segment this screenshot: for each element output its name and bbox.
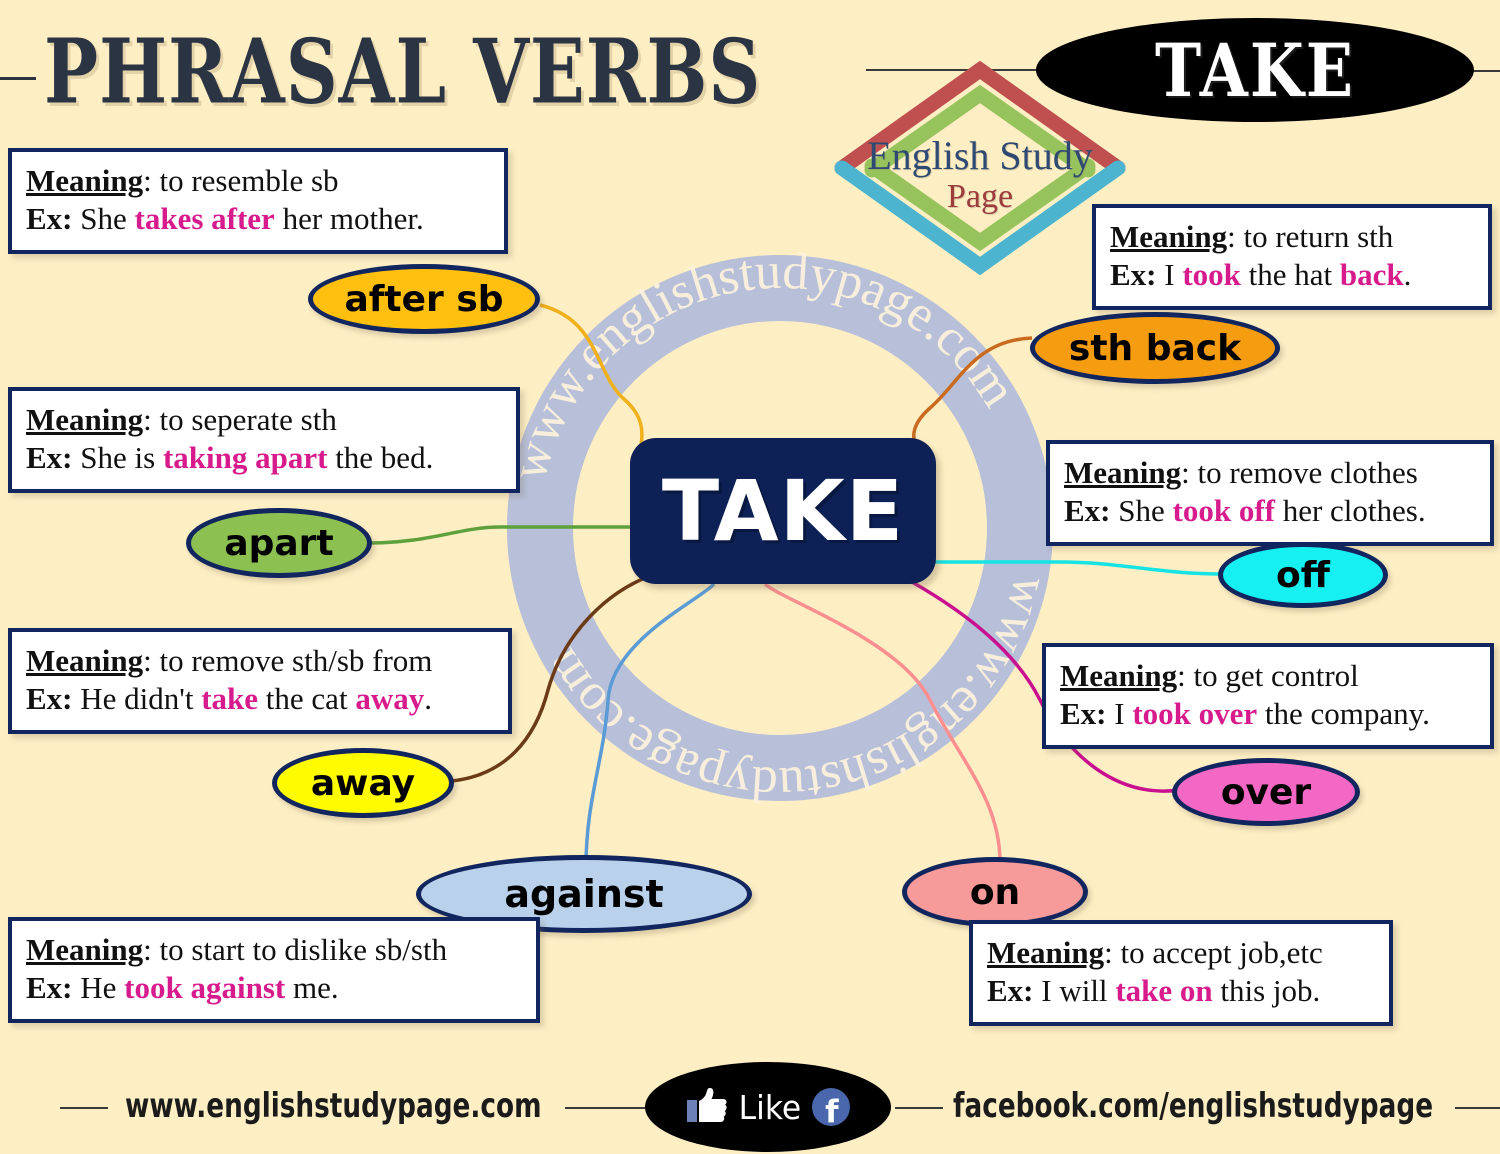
meaning-label-after-sb: Meaning xyxy=(26,163,143,198)
footer-rule-4 xyxy=(1455,1107,1500,1109)
example-highlight2-sth-back: back xyxy=(1340,257,1404,292)
example-highlight-against: took against xyxy=(124,970,285,1005)
meaning-box-apart: Meaning: to seperate sth Ex: She is taki… xyxy=(8,387,520,493)
meaning-text-away: : to remove sth/sb from xyxy=(143,643,432,678)
connector-off xyxy=(934,562,1222,574)
bubble-label-sth-back: sth back xyxy=(1069,328,1241,369)
example-pre-against: He xyxy=(73,970,125,1005)
page-title: PHRASAL VERBS xyxy=(44,20,761,124)
bubble-label-against: against xyxy=(504,872,663,916)
meaning-text-on: : to accept job,etc xyxy=(1104,935,1323,970)
infographic-canvas: www.englishstudypage.com www.englishstud… xyxy=(0,0,1500,1154)
bubble-label-on: on xyxy=(970,872,1020,913)
example-pre-away: He didn't xyxy=(73,681,202,716)
example-highlight-after-sb: takes after xyxy=(135,201,275,236)
meaning-label-sth-back: Meaning xyxy=(1110,219,1227,254)
meaning-label-against: Meaning xyxy=(26,932,143,967)
bubble-off[interactable]: off xyxy=(1218,542,1388,608)
example-label-after-sb: Ex: xyxy=(26,201,73,236)
footer-website[interactable]: www.englishstudypage.com xyxy=(125,1086,542,1126)
bubble-label-apart: apart xyxy=(224,523,333,564)
footer-rule-3 xyxy=(895,1107,943,1109)
meaning-box-on: Meaning: to accept job,etc Ex: I will ta… xyxy=(969,920,1393,1026)
footer-facebook[interactable]: facebook.com/englishstudypage xyxy=(953,1086,1433,1126)
example-post-against: me. xyxy=(285,970,338,1005)
connector-after-sb xyxy=(540,305,642,452)
meaning-label-on: Meaning xyxy=(987,935,1104,970)
bubble-on[interactable]: on xyxy=(902,857,1088,927)
example-label-off: Ex: xyxy=(1064,493,1111,528)
example-highlight-sth-back: took xyxy=(1182,257,1241,292)
footer-rule-2 xyxy=(565,1107,645,1109)
example-label-apart: Ex: xyxy=(26,440,73,475)
connector-against xyxy=(586,584,714,866)
meaning-label-apart: Meaning xyxy=(26,402,143,437)
meaning-label-off: Meaning xyxy=(1064,455,1181,490)
meaning-text-off: : to remove clothes xyxy=(1181,455,1418,490)
facebook-glyph: f xyxy=(825,1097,839,1127)
connector-apart xyxy=(370,527,636,543)
example-label-away: Ex: xyxy=(26,681,73,716)
meaning-text-apart: : to seperate sth xyxy=(143,402,337,437)
example-highlight2-away: away xyxy=(355,681,424,716)
example-label-sth-back: Ex: xyxy=(1110,257,1157,292)
connector-sth-back xyxy=(914,338,1032,452)
meaning-box-off: Meaning: to remove clothes Ex: She took … xyxy=(1046,440,1494,546)
meaning-box-against: Meaning: to start to dislike sb/sth Ex: … xyxy=(8,917,540,1023)
example-post-away: . xyxy=(424,681,432,716)
meaning-box-sth-back: Meaning: to return sth Ex: I took the ha… xyxy=(1092,204,1492,310)
example-pre-sth-back: I xyxy=(1157,257,1183,292)
example-post-sth-back: . xyxy=(1404,257,1412,292)
bubble-after-sb[interactable]: after sb xyxy=(308,264,540,334)
example-label-on: Ex: xyxy=(987,973,1034,1008)
facebook-icon: f xyxy=(812,1088,850,1126)
meaning-text-against: : to start to dislike sb/sth xyxy=(143,932,447,967)
bubble-label-over: over xyxy=(1221,772,1311,813)
example-highlight-off: took off xyxy=(1173,493,1275,528)
bubble-away[interactable]: away xyxy=(272,748,454,818)
meaning-label-over: Meaning xyxy=(1060,658,1177,693)
example-pre-on: I will xyxy=(1034,973,1116,1008)
center-node: TAKE xyxy=(630,438,936,584)
example-mid-sth-back: the hat xyxy=(1241,257,1340,292)
example-highlight-away: take xyxy=(201,681,258,716)
meaning-text-sth-back: : to return sth xyxy=(1227,219,1393,254)
bubble-label-away: away xyxy=(311,763,415,804)
example-mid-away: the cat xyxy=(258,681,355,716)
facebook-like-button[interactable]: Like f xyxy=(645,1062,891,1152)
meaning-label-away: Meaning xyxy=(26,643,143,678)
example-pre-after-sb: She xyxy=(73,201,135,236)
example-pre-off: She xyxy=(1111,493,1173,528)
example-pre-apart: She is xyxy=(73,440,163,475)
bubble-over[interactable]: over xyxy=(1172,758,1360,826)
example-post-over: the company. xyxy=(1257,696,1430,731)
meaning-box-away: Meaning: to remove sth/sb from Ex: He di… xyxy=(8,628,512,734)
meaning-box-over: Meaning: to get control Ex: I took over … xyxy=(1042,643,1494,749)
example-pre-over: I xyxy=(1107,696,1133,731)
example-highlight-over: took over xyxy=(1132,696,1257,731)
logo-primary-text: English Study xyxy=(820,132,1140,179)
example-post-after-sb: her mother. xyxy=(275,201,424,236)
example-post-on: this job. xyxy=(1213,973,1321,1008)
example-label-against: Ex: xyxy=(26,970,73,1005)
center-node-label: TAKE xyxy=(662,462,904,560)
meaning-text-over: : to get control xyxy=(1177,658,1359,693)
title-rule-left xyxy=(0,77,36,80)
bubble-label-off: off xyxy=(1276,555,1330,596)
example-post-off: her clothes. xyxy=(1275,493,1426,528)
like-label: Like xyxy=(739,1088,802,1127)
footer-rule-1 xyxy=(60,1107,108,1109)
connector-on xyxy=(765,584,1000,862)
bubble-apart[interactable]: apart xyxy=(186,508,372,578)
example-highlight-apart: taking apart xyxy=(163,440,328,475)
bubble-label-after-sb: after sb xyxy=(344,279,503,320)
bubble-sth-back[interactable]: sth back xyxy=(1030,312,1280,384)
example-label-over: Ex: xyxy=(1060,696,1107,731)
example-highlight-on: take on xyxy=(1115,973,1212,1008)
meaning-text-after-sb: : to resemble sb xyxy=(143,163,338,198)
meaning-box-after-sb: Meaning: to resemble sb Ex: She takes af… xyxy=(8,148,508,254)
verb-badge-label: TAKE xyxy=(1155,27,1355,113)
thumbs-up-icon xyxy=(686,1087,728,1127)
example-post-apart: the bed. xyxy=(327,440,433,475)
